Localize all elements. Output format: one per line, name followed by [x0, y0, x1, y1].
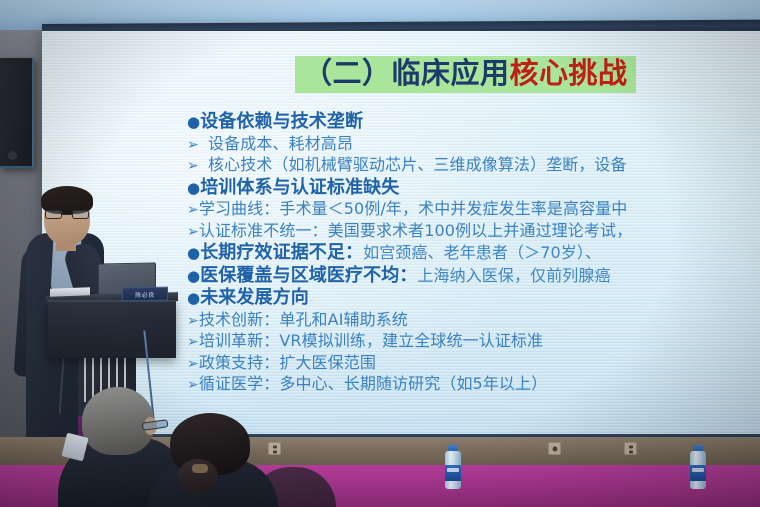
audience-hair-tie — [192, 464, 208, 473]
audience-head — [82, 387, 154, 455]
slide-line-text: 长期疗效证据不足： — [200, 242, 363, 263]
wall-outlet-icon — [624, 442, 637, 455]
wall-speaker — [0, 58, 34, 168]
slide-line: ➢技术创新：单孔和AI辅助系统 — [187, 310, 760, 332]
slide-line-text: 认证标准不统一：美国要求术者100例以上并通过理论考试， — [199, 221, 632, 240]
water-bottle — [690, 445, 706, 489]
slide-line-text: 核心技术（如机械臂驱动芯片、三维成像算法）垄断，设备 — [203, 155, 627, 174]
slide-title-main: （二）临床应用 — [303, 56, 510, 90]
slide-line-text: 学习曲线：手术量＜50例/年，术中并发症发生率是高容量中 — [199, 199, 628, 218]
slide-line: ➢ 核心技术（如机械臂驱动芯片、三维成像算法）垄断，设备 — [187, 155, 760, 177]
slide-line: ➢培训革新：VR模拟训练，建立全球统一认证标准 — [187, 331, 760, 353]
slide-line-text: 培训革新：VR模拟训练，建立全球统一认证标准 — [199, 331, 543, 350]
bullet-arrow-icon: ➢ — [187, 137, 199, 153]
slide-line: ➢循证医学：多中心、长期随访研究（如5年以上） — [187, 374, 760, 396]
slide-line: ➢ 设备成本、耗材高昂 — [187, 134, 760, 156]
slide-line-text: 设备成本、耗材高昂 — [203, 134, 353, 153]
slide-line: ●未来发展方向 — [187, 287, 760, 310]
bottle-label — [445, 465, 461, 481]
podium — [48, 300, 176, 358]
slide-line: ●设备依赖与技术垄断 — [187, 111, 760, 134]
wall-outlet-icon — [548, 442, 561, 455]
slide-line-tail: 上海纳入医保，仅前列腺癌 — [417, 266, 610, 285]
bullet-filled-circle-icon: ● — [187, 113, 200, 131]
podium-nameplate: 陈必良 — [122, 287, 168, 302]
slide-line: ➢学习曲线：手术量＜50例/年，术中并发症发生率是高容量中 — [187, 199, 760, 221]
slide-body: ●设备依赖与技术垄断 ➢ 设备成本、耗材高昂 ➢ 核心技术（如机械臂驱动芯片、三… — [187, 111, 760, 396]
podium-papers — [50, 287, 90, 296]
slide-line: ●医保覆盖与区域医疗不均：上海纳入医保，仅前列腺癌 — [187, 265, 760, 288]
slide-line-text: 技术创新：单孔和AI辅助系统 — [199, 310, 408, 329]
slide-title: （二）临床应用核心挑战 — [295, 56, 636, 93]
slide-title-row: （二）临床应用核心挑战 — [295, 56, 636, 93]
slide-line-text: 循证医学：多中心、长期随访研究（如5年以上） — [199, 374, 547, 393]
bottle-label — [690, 465, 706, 481]
audience-member — [148, 415, 278, 507]
slide-line-text: 医保覆盖与区域医疗不均： — [200, 265, 417, 286]
slide-line: ➢认证标准不统一：美国要求术者100例以上并通过理论考试， — [187, 221, 760, 243]
presenter-glasses — [45, 210, 89, 219]
slide-line-tail: 如宫颈癌、老年患者（＞70岁）、 — [363, 243, 601, 262]
slide-line-text: 政策支持：扩大医保范围 — [199, 353, 376, 372]
slide-line: ➢政策支持：扩大医保范围 — [187, 353, 760, 375]
presentation-photo: （二）临床应用核心挑战 ●设备依赖与技术垄断 ➢ 设备成本、耗材高昂 ➢ 核心技… — [0, 0, 760, 507]
bullet-arrow-icon: ➢ — [187, 158, 199, 174]
podium-nameplate-text: 陈必良 — [135, 289, 155, 298]
slide-line-text: 设备依赖与技术垄断 — [200, 111, 363, 132]
slide-title-accent: 核心挑战 — [510, 56, 628, 90]
slide-line: ●培训体系与认证标准缺失 — [187, 177, 760, 200]
slide-line-text: 培训体系与认证标准缺失 — [200, 177, 399, 198]
slide-line-text: 未来发展方向 — [200, 287, 309, 308]
water-bottle — [445, 445, 461, 489]
slide-line: ●长期疗效证据不足：如宫颈癌、老年患者（＞70岁）、 — [187, 242, 760, 265]
